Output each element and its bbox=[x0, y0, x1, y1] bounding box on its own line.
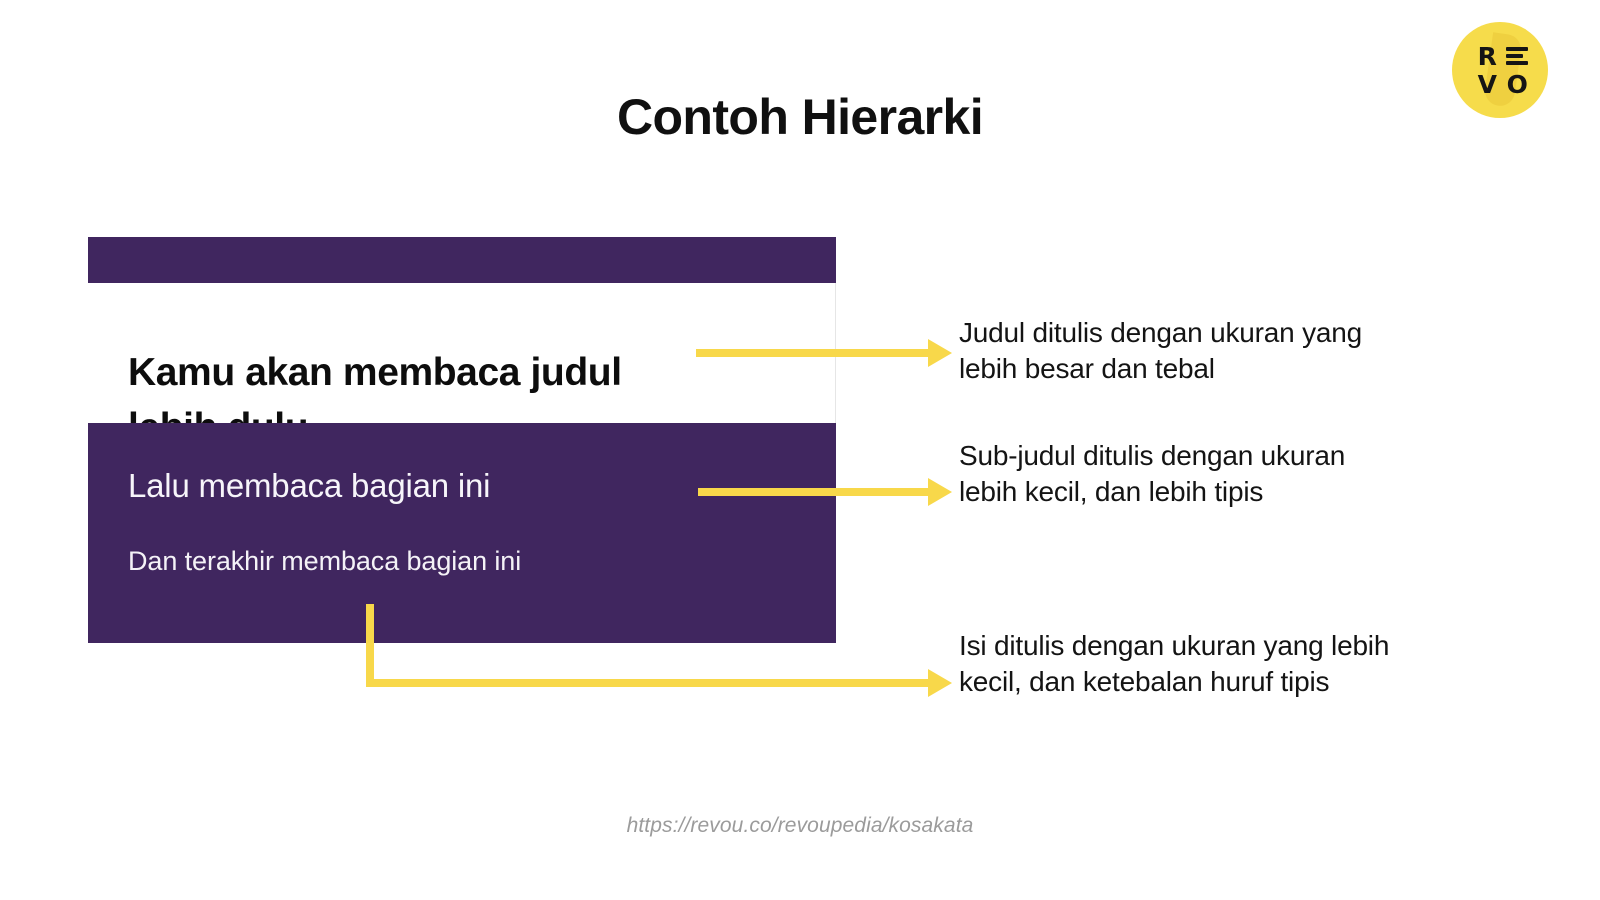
hierarchy-example-card: Kamu akan membaca judul lebih dulu Lalu … bbox=[88, 237, 836, 643]
card-top-purple-bar bbox=[88, 237, 836, 283]
card-body-text: Dan terakhir membaca bagian ini bbox=[128, 546, 521, 577]
logo-letter-r: R bbox=[1478, 44, 1497, 69]
annotation-title-note: Judul ditulis dengan ukuran yang lebih b… bbox=[959, 315, 1389, 388]
annotation-body-note: Isi ditulis dengan ukuran yang lebih kec… bbox=[959, 628, 1409, 701]
footer-source-url[interactable]: https://revou.co/revoupedia/kosakata bbox=[0, 814, 1600, 838]
card-purple-area: Lalu membaca bagian ini Dan terakhir mem… bbox=[88, 423, 836, 643]
slide-canvas: R V O Contoh Hierarki Kamu akan membaca … bbox=[0, 0, 1600, 900]
card-white-area: Kamu akan membaca judul lebih dulu bbox=[88, 283, 836, 423]
annotation-subtitle-note: Sub-judul ditulis dengan ukuran lebih ke… bbox=[959, 438, 1359, 511]
logo-letter-e-icon bbox=[1506, 47, 1528, 65]
card-subheading-text: Lalu membaca bagian ini bbox=[128, 467, 490, 505]
card-right-edge-divider bbox=[835, 283, 836, 423]
page-title: Contoh Hierarki bbox=[0, 88, 1600, 146]
